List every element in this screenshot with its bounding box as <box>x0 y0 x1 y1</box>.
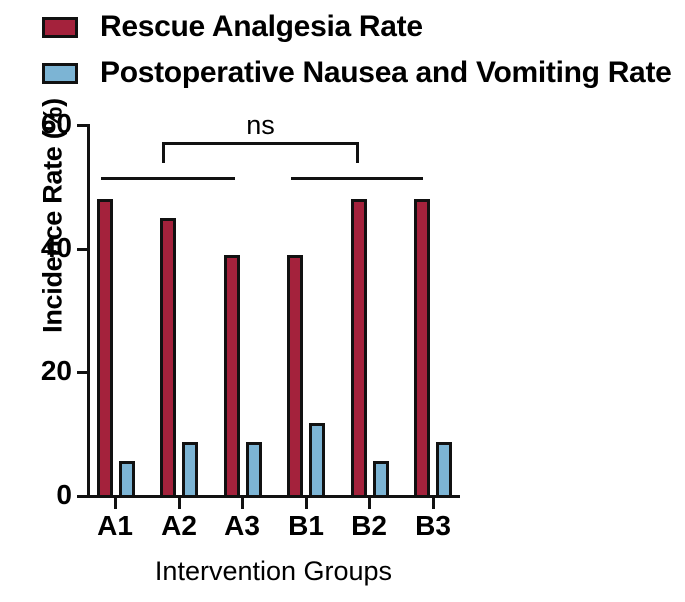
plot-area: 60 40 20 0 A1 A2 A3 B1 B2 B3 ns <box>0 0 685 602</box>
bar-a2-series2 <box>182 442 198 498</box>
bar-a3-series2 <box>246 442 262 498</box>
y-tick-label-60: 60 <box>41 110 72 138</box>
y-axis-line <box>87 124 90 498</box>
y-tick-mark-40 <box>77 248 88 251</box>
ns-bracket <box>162 142 359 163</box>
bar-b2-series2 <box>373 461 389 498</box>
bar-a3-series1 <box>224 255 240 498</box>
bar-b3-series2 <box>436 442 452 498</box>
y-tick-label-0: 0 <box>56 481 72 509</box>
y-tick-mark-60 <box>77 124 88 127</box>
x-axis-line <box>87 495 460 498</box>
bar-a1-series1 <box>97 199 113 498</box>
group-b-underline <box>291 177 423 180</box>
bar-chart-figure: Rescue Analgesia Rate Postoperative Naus… <box>0 0 685 602</box>
x-tick-mark-a2 <box>178 498 181 509</box>
x-tick-mark-b2 <box>368 498 371 509</box>
y-tick-mark-0 <box>77 495 88 498</box>
bar-b2-series1 <box>351 199 367 498</box>
bar-b3-series1 <box>414 199 430 498</box>
x-tick-label-a2: A2 <box>149 512 209 540</box>
y-tick-label-20: 20 <box>41 357 72 385</box>
y-tick-label-40: 40 <box>41 234 72 262</box>
x-tick-label-a1: A1 <box>85 512 145 540</box>
bar-b1-series1 <box>287 255 303 498</box>
bar-a1-series2 <box>119 461 135 498</box>
x-tick-mark-a3 <box>241 498 244 509</box>
x-tick-label-b3: B3 <box>403 512 463 540</box>
group-a-underline <box>101 177 235 180</box>
x-tick-label-a3: A3 <box>212 512 272 540</box>
x-tick-mark-b3 <box>432 498 435 509</box>
x-tick-mark-b1 <box>305 498 308 509</box>
x-tick-label-b2: B2 <box>339 512 399 540</box>
x-tick-label-b1: B1 <box>276 512 336 540</box>
bar-a2-series1 <box>160 218 176 499</box>
bar-b1-series2 <box>309 423 325 498</box>
x-tick-mark-a1 <box>114 498 117 509</box>
ns-label: ns <box>162 112 359 139</box>
y-tick-mark-20 <box>77 371 88 374</box>
